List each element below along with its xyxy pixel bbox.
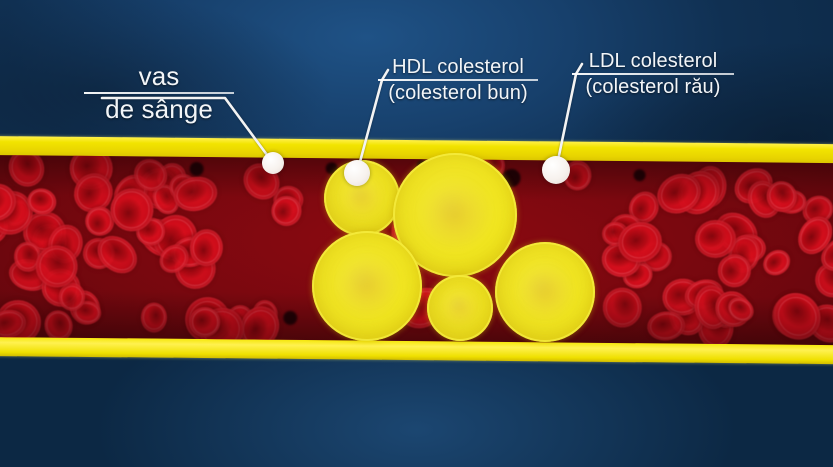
callout-hdl: HDL colesterol (colesterol bun) [378,56,538,104]
globule-lower-left [312,231,422,341]
globule-rim [312,231,422,341]
globule-small-bottom [427,275,493,341]
globule-rim [427,275,493,341]
callout-vas-line1: vas [84,62,234,91]
callout-hdl-line2: (colesterol bun) [378,82,538,104]
globule-right [495,242,595,342]
callout-vas-line2: de sânge [84,95,234,124]
callout-ldl: LDL colesterol (colesterol rău) [572,50,734,98]
callout-hdl-underline [378,79,538,81]
globule-rim [495,242,595,342]
callout-hdl-line1: HDL colesterol [378,56,538,78]
callout-vas-de-sange: vas de sânge [84,62,234,124]
dot-hdl[interactable] [344,160,370,186]
dot-vas-de-sange[interactable] [262,152,284,174]
callout-ldl-underline [572,73,734,75]
illustration-canvas: vas de sânge HDL colesterol (colesterol … [0,0,833,467]
callout-ldl-line1: LDL colesterol [572,50,734,72]
callout-ldl-line2: (colesterol rău) [572,76,734,98]
dot-ldl[interactable] [542,156,570,184]
